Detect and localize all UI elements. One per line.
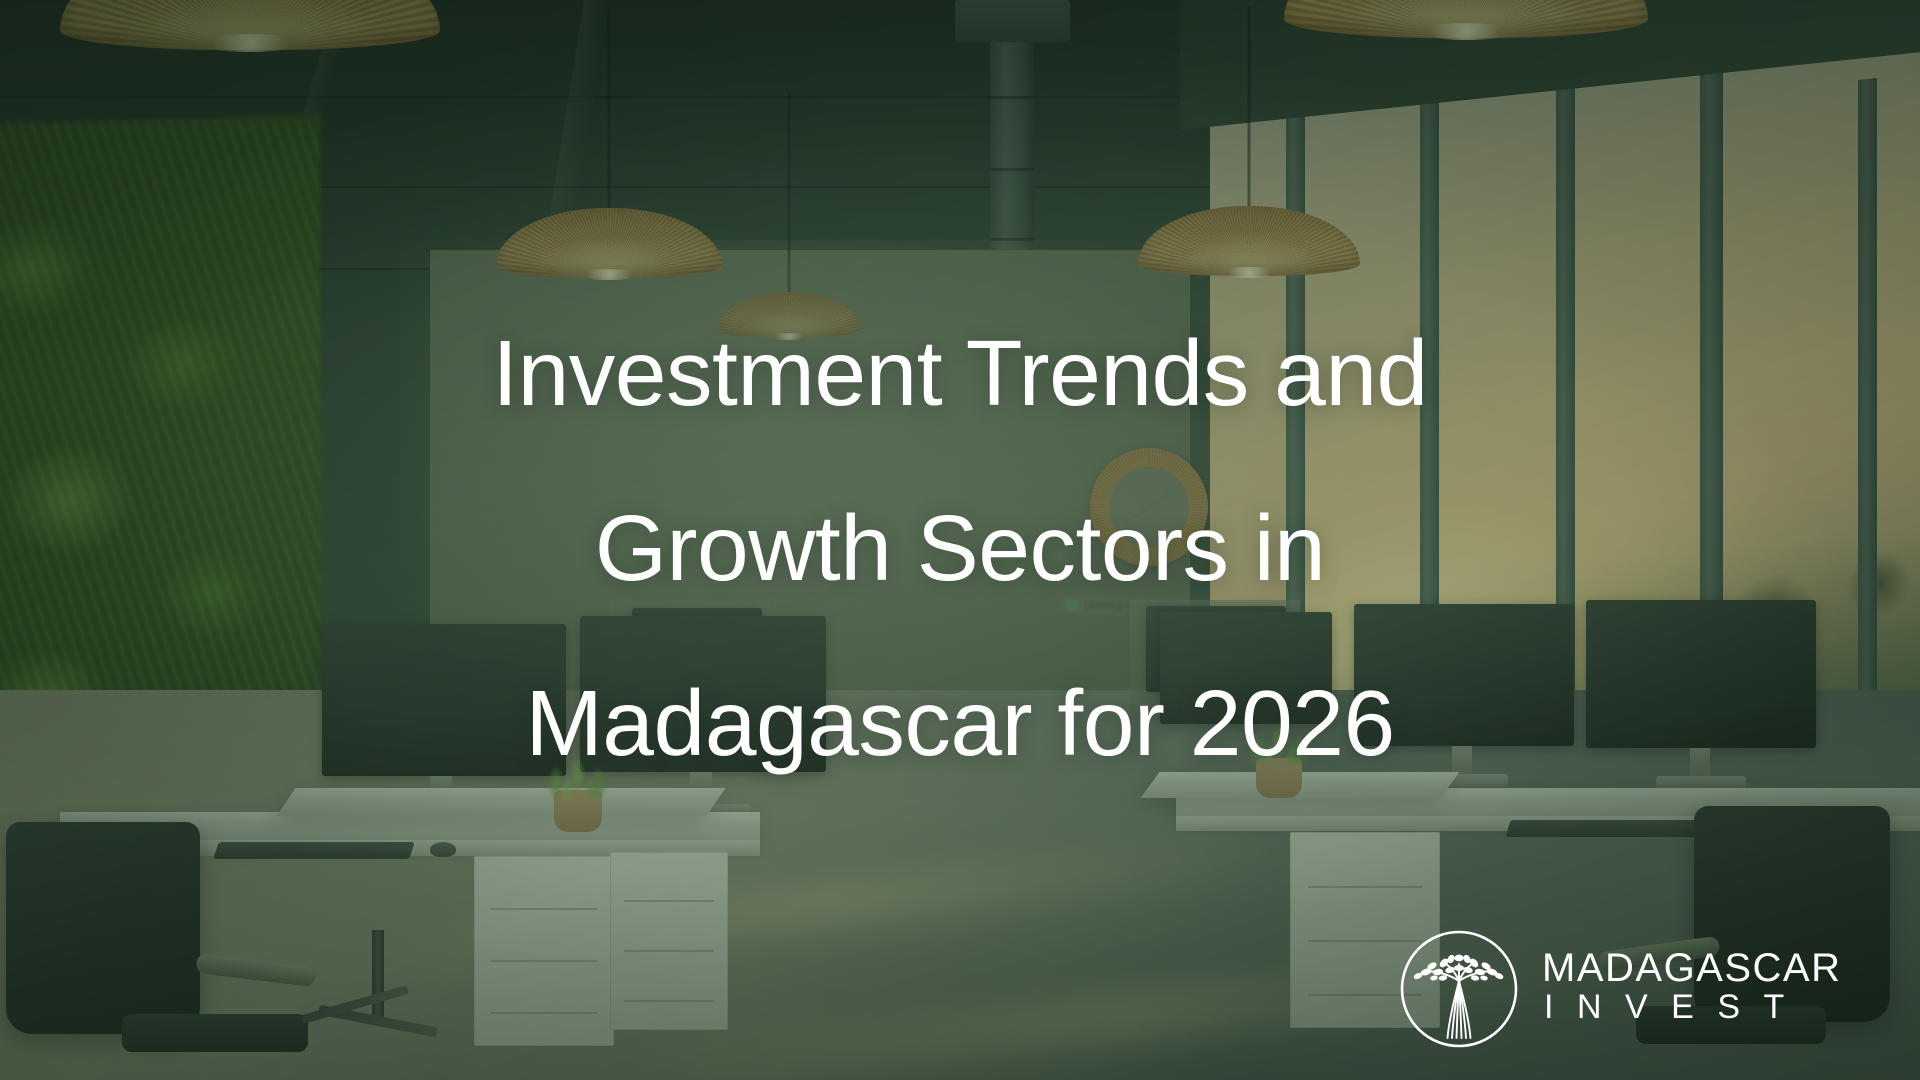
baobab-tree-icon (1398, 928, 1520, 1050)
hero-title-line-1: Investment Trends and (150, 286, 1770, 461)
brand-name-secondary: INVEST (1542, 988, 1842, 1026)
hero-title-line-2: Growth Sectors in (150, 461, 1770, 636)
hero-title: Investment Trends and Growth Sectors in … (0, 286, 1920, 811)
hero-banner: Madagascar Invest (0, 0, 1920, 1080)
hero-title-line-3: Madagascar for 2026 (150, 636, 1770, 811)
brand-logo: MADAGASCAR INVEST (1398, 928, 1842, 1050)
brand-logo-text: MADAGASCAR INVEST (1542, 948, 1842, 1031)
brand-name-primary: MADAGASCAR (1542, 948, 1842, 989)
